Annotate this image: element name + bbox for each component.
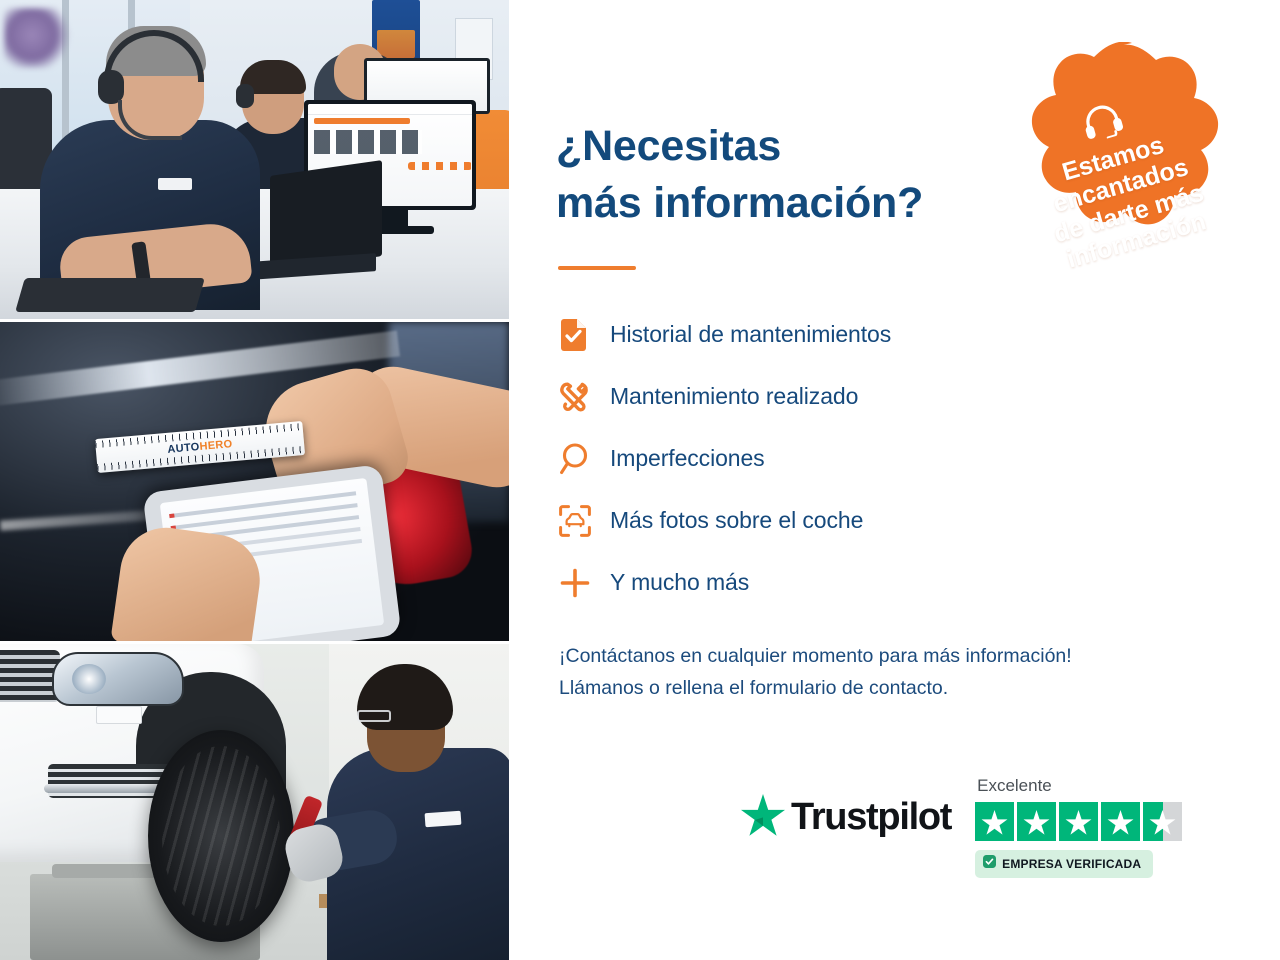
promo-panel: AUTOHERO [0,0,1280,960]
monitor-header-bar [314,118,410,124]
mechanic-logo-badge [425,811,462,827]
document-check-icon [558,318,610,352]
rating-label: Excelente [977,776,1052,796]
verified-company-label: EMPRESA VERIFICADA [1002,857,1141,871]
plus-icon [558,566,610,600]
verified-company-badge: EMPRESA VERIFICADA [975,850,1153,878]
trustpilot-block[interactable]: Trustpilot Excelente [741,776,1182,878]
rating-star-5-half [1143,802,1182,841]
magnifier-icon [558,442,610,476]
feature-label: Imperfecciones [610,445,765,472]
feature-item-much-more: Y mucho más [558,552,1220,614]
desk-tablet [15,278,205,312]
autohero-logo-suffix: HERO [199,438,233,453]
rating-star-3 [1059,802,1098,841]
trustpilot-star-icon [741,794,785,841]
car-wheel [148,730,294,942]
car-headlight [52,652,184,706]
headset-earcup [98,70,124,104]
info-content: ¿Necesitas más información? Historial de… [509,0,1280,960]
second-agent-headset [236,84,254,108]
safety-glasses [357,710,391,722]
trustpilot-wordmark: Trustpilot [791,796,951,839]
rating-star-1 [975,802,1014,841]
feature-label: Y mucho más [610,569,749,596]
feature-list: Historial de mantenimientos Mantenimient… [558,304,1220,614]
feature-item-imperfections: Imperfecciones [558,428,1220,490]
contact-line-1: ¡Contáctanos en cualquier momento para m… [559,640,1219,673]
title-underline-rule [558,266,636,270]
autohero-logo-prefix: AUTO [167,441,200,456]
monitor-icons-row [408,162,472,170]
photo-strip: AUTOHERO [0,0,509,960]
rating-stars [975,802,1182,841]
feature-label: Más fotos sobre el coche [610,507,863,534]
car-grille [0,650,60,702]
rating-star-2 [1017,802,1056,841]
feature-label: Historial de mantenimientos [610,321,891,348]
verified-check-icon [983,855,996,873]
trustpilot-logo[interactable]: Trustpilot [741,794,951,841]
trustpilot-rating: Excelente [975,776,1182,878]
support-badge: Estamos encantados de darte más informac… [988,42,1248,310]
contact-line-2: Llámanos o rellena el formulario de cont… [559,672,1219,705]
main-agent-logo-badge [158,178,192,190]
rating-star-4 [1101,802,1140,841]
call-center-agents-photo [0,0,509,319]
car-inspection-ruler-photo: AUTOHERO [0,322,509,641]
headline-line-2: más información? [556,175,1026,232]
feature-item-maintenance-done: Mantenimiento realizado [558,366,1220,428]
headline-line-1: ¿Necesitas [556,122,781,170]
car-scan-icon [558,504,610,538]
window-foliage [4,8,74,68]
contact-paragraph: ¡Contáctanos en cualquier momento para m… [559,640,1219,706]
license-plate [96,706,142,724]
feature-label: Mantenimiento realizado [610,383,858,410]
badge-text: Estamos encantados de darte más informac… [1035,124,1215,276]
mechanic-wheel-photo [0,644,509,960]
page-title: ¿Necesitas más información? [556,118,1026,232]
feature-item-more-photos: Más fotos sobre el coche [558,490,1220,552]
tools-wrench-screwdriver-icon [558,380,610,414]
